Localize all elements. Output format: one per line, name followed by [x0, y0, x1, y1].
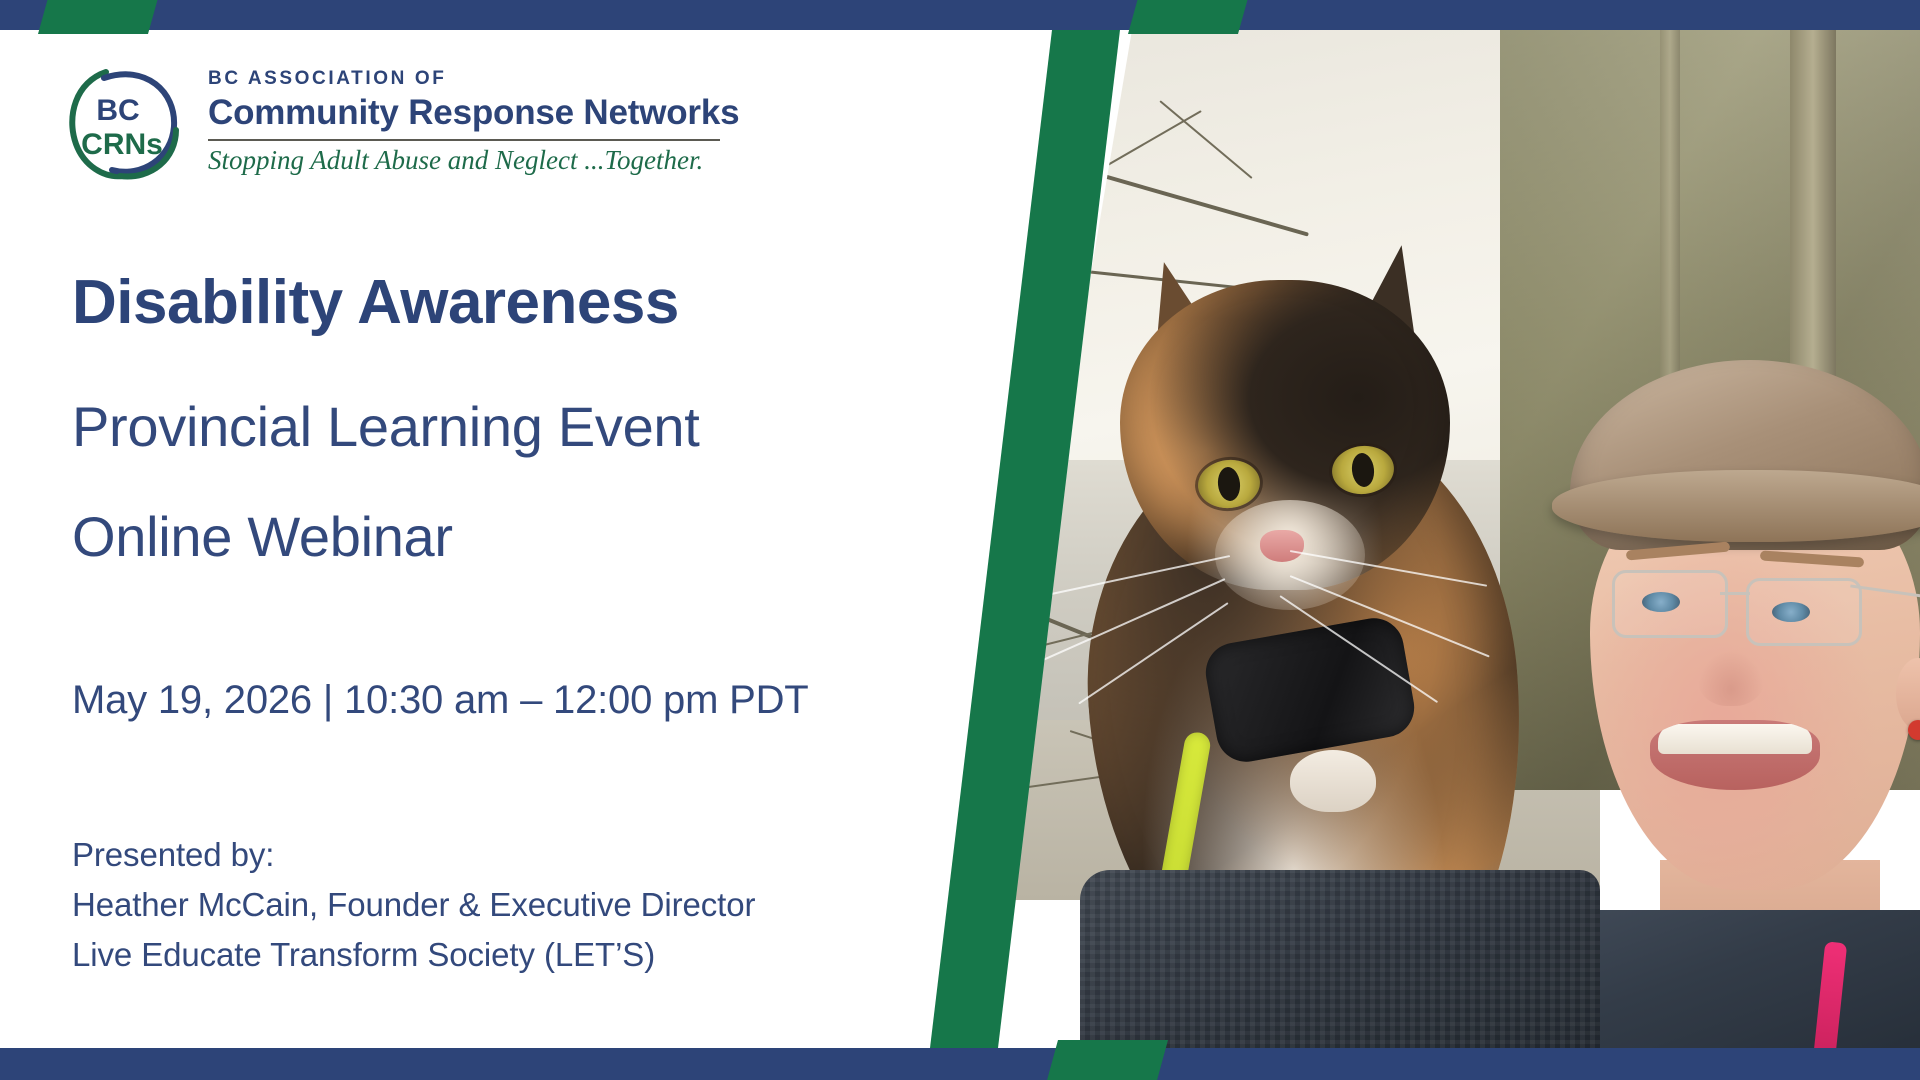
- bccrn-logo-mark-icon: BC CRNs: [60, 58, 188, 186]
- logo-divider: [208, 139, 720, 141]
- presented-by-label: Presented by:: [72, 830, 755, 880]
- bccrn-logo: BC CRNs BC ASSOCIATION OF Community Resp…: [60, 58, 739, 186]
- smiling-mouth: [1650, 720, 1820, 790]
- eyeglasses-bridge: [1720, 592, 1750, 595]
- logo-line-1: BC ASSOCIATION OF: [208, 69, 739, 90]
- green-accent-stripe-top-right: [1080, 0, 1300, 34]
- svg-text:CRNs: CRNs: [81, 128, 163, 161]
- presenter-block: Presented by: Heather McCain, Founder & …: [72, 830, 755, 980]
- presenter-organization: Live Educate Transform Society (LET’S): [72, 930, 755, 980]
- eyeglasses-lens: [1746, 578, 1862, 646]
- content-panel: BC CRNs BC ASSOCIATION OF Community Resp…: [0, 30, 990, 1048]
- cat-pupil: [1216, 466, 1241, 502]
- event-datetime: May 19, 2026 | 10:30 am – 12:00 pm PDT: [72, 678, 809, 723]
- logo-line-2: Community Response Networks: [208, 93, 739, 132]
- event-subtitle-line-2: Online Webinar: [72, 508, 453, 567]
- hat-brim: [1552, 470, 1920, 542]
- svg-text:BC: BC: [96, 94, 139, 127]
- knit-sweater: [1080, 870, 1600, 1048]
- webinar-promo-poster: BC CRNs BC ASSOCIATION OF Community Resp…: [0, 0, 1920, 1080]
- bottom-navy-bar: [0, 1048, 1920, 1080]
- cat-pupil: [1350, 452, 1375, 488]
- teeth: [1658, 724, 1812, 754]
- photo-canvas: [960, 30, 1920, 1048]
- cat-nose: [1260, 530, 1304, 562]
- presenter-photo: [960, 30, 1920, 1048]
- bccrn-logo-text: BC ASSOCIATION OF Community Response Net…: [208, 69, 739, 176]
- logo-tagline: Stopping Adult Abuse and Neglect ...Toge…: [208, 146, 739, 176]
- green-accent-stripe-top-left: [0, 0, 200, 34]
- eyeglasses-lens: [1612, 570, 1728, 638]
- event-title: Disability Awareness: [72, 270, 679, 335]
- top-navy-bar: [0, 0, 1920, 30]
- nose: [1698, 650, 1764, 706]
- green-accent-stripe-bottom: [980, 1040, 1200, 1080]
- presenter-name: Heather McCain, Founder & Executive Dire…: [72, 880, 755, 930]
- cat-paw: [1290, 750, 1376, 812]
- event-subtitle-line-1: Provincial Learning Event: [72, 398, 700, 457]
